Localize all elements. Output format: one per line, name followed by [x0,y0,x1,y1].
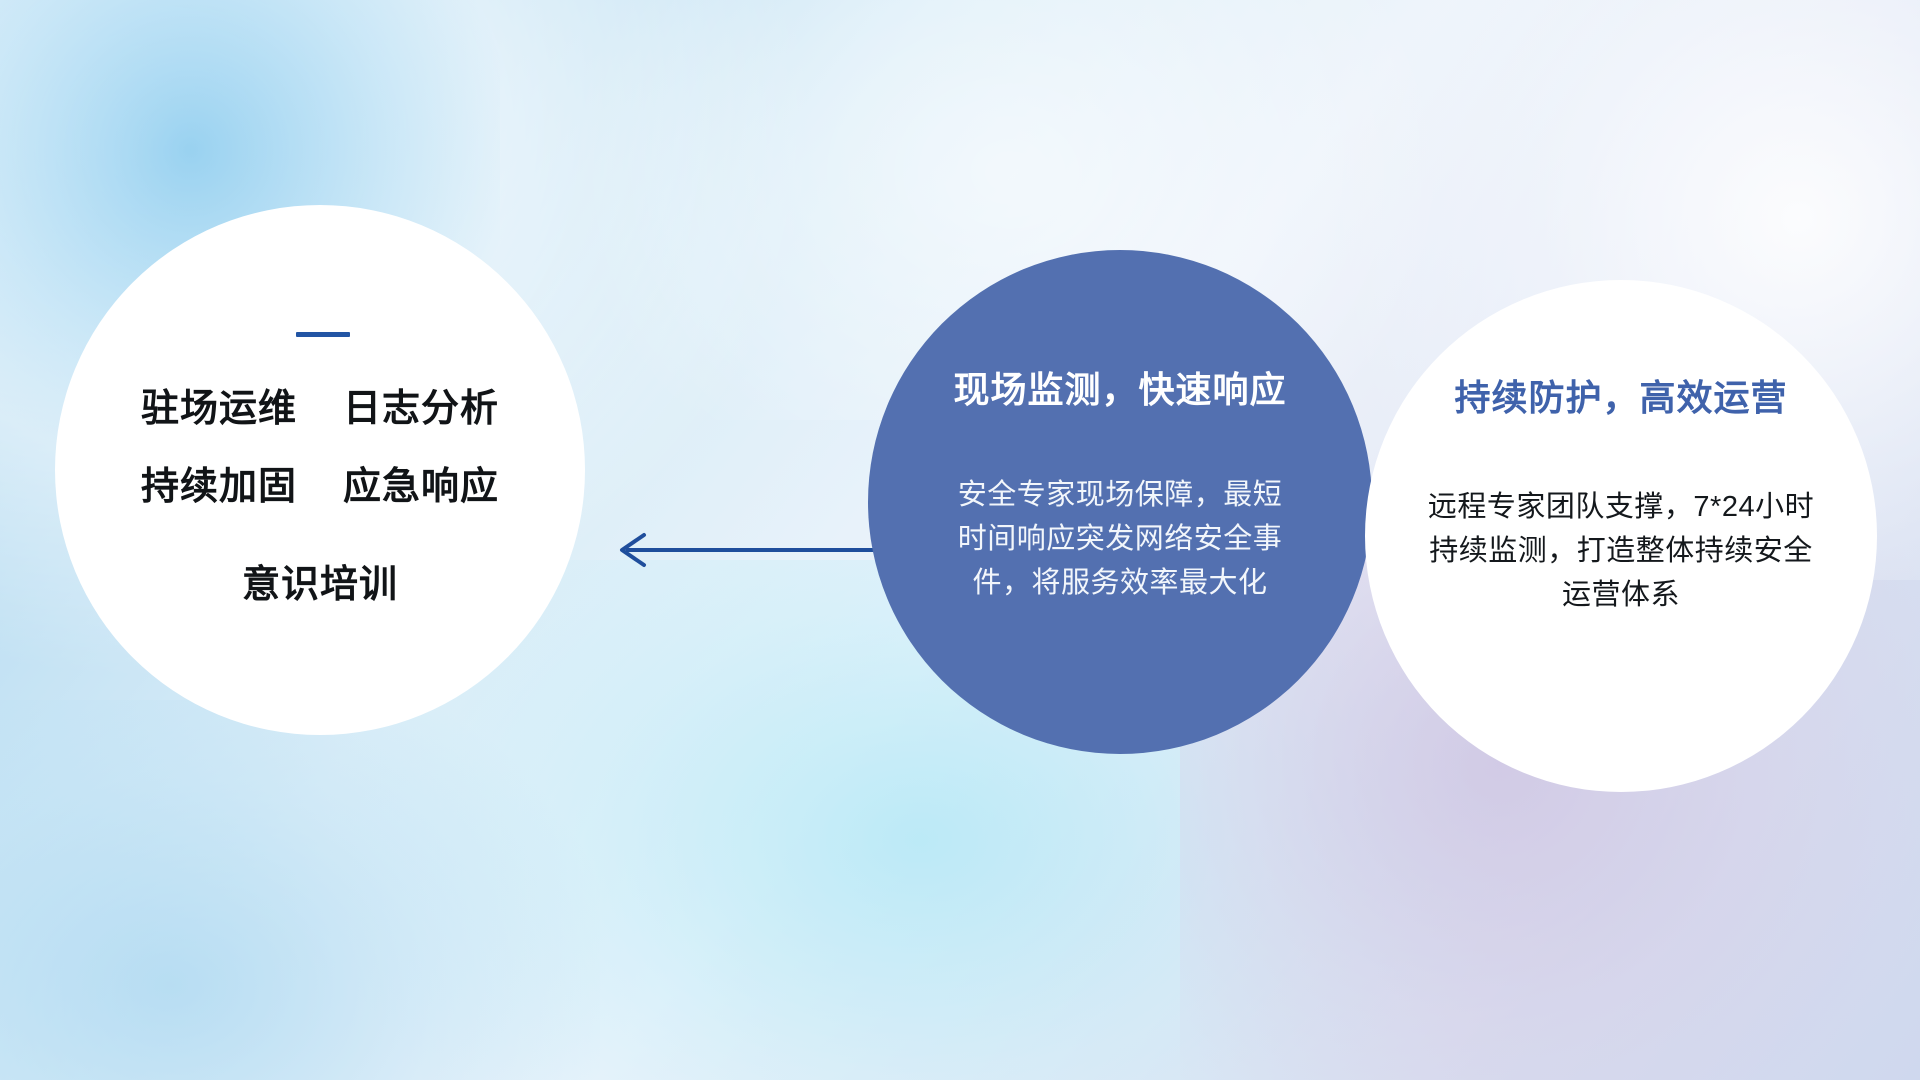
connector-arrow [600,520,910,580]
keyword-row: 持续加固 应急响应 [141,467,499,509]
keyword-item: 日志分析 [343,389,499,431]
right-circle[interactable]: 持续防护，高效运营 远程专家团队支撑，7*24小时持续监测，打造整体持续安全运营… [1365,280,1877,792]
right-circle-content: 持续防护，高效运营 远程专家团队支撑，7*24小时持续监测，打造整体持续安全运营… [1365,280,1877,792]
center-circle[interactable]: 现场监测，快速响应 安全专家现场保障，最短时间响应突发网络安全事件，将服务效率最… [868,250,1372,754]
center-circle-body: 安全专家现场保障，最短时间响应突发网络安全事件，将服务效率最大化 [955,473,1285,605]
left-circle-content: 驻场运维 日志分析 持续加固 应急响应 意识培训 [55,205,585,735]
center-circle-content: 现场监测，快速响应 安全专家现场保障，最短时间响应突发网络安全事件，将服务效率最… [868,250,1372,754]
background-glow-bottom-left [0,700,600,1080]
slide-canvas: 驻场运维 日志分析 持续加固 应急响应 意识培训 现场监测，快速响应 安全专家现… [0,0,1920,1080]
keyword-item: 持续加固 [141,467,297,509]
keyword-item: 驻场运维 [141,389,297,431]
keyword-item: 应急响应 [343,467,499,509]
accent-dash [296,332,350,337]
right-circle-body: 远程专家团队支撑，7*24小时持续监测，打造整体持续安全运营体系 [1415,485,1827,617]
keyword-row: 驻场运维 日志分析 [141,389,499,431]
keyword-item: 意识培训 [242,553,398,608]
center-circle-title: 现场监测，快速响应 [953,368,1286,411]
right-circle-title: 持续防护，高效运营 [1454,376,1787,419]
left-circle[interactable]: 驻场运维 日志分析 持续加固 应急响应 意识培训 [55,205,585,735]
left-pointing-arrow-icon [600,520,910,580]
